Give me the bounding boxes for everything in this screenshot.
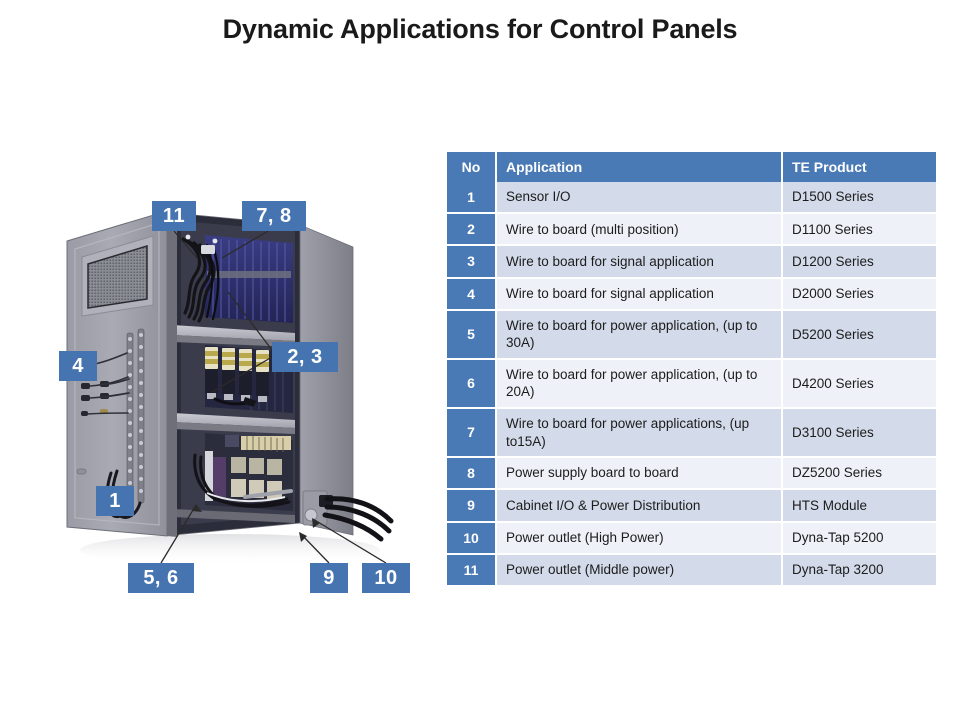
column-header-application: Application	[496, 152, 782, 182]
table-row[interactable]: 1Sensor I/OD1500 Series	[447, 182, 936, 213]
cell-te-product: D2000 Series	[782, 278, 936, 310]
callout-badge-9[interactable]: 9	[310, 563, 348, 593]
cell-application: Wire to board for power applications, (u…	[496, 408, 782, 457]
cell-te-product: D1100 Series	[782, 213, 936, 245]
control-panel-cabinet-photo	[55, 205, 415, 575]
cabinet-side-panel	[300, 225, 353, 535]
cell-application: Power outlet (High Power)	[496, 522, 782, 554]
table-header: No Application TE Product	[447, 152, 936, 182]
column-header-te-product: TE Product	[782, 152, 936, 182]
table-row[interactable]: 4Wire to board for signal applicationD20…	[447, 278, 936, 310]
callout-badge-5-6[interactable]: 5, 6	[128, 563, 194, 593]
table-row[interactable]: 6Wire to board for power application, (u…	[447, 359, 936, 408]
callout-label: 11	[163, 206, 185, 226]
table-row[interactable]: 11Power outlet (Middle power)Dyna-Tap 32…	[447, 554, 936, 585]
cell-te-product: DZ5200 Series	[782, 457, 936, 489]
cell-application: Wire to board for power application, (up…	[496, 359, 782, 408]
floor-shadow	[80, 534, 380, 566]
table-header-row: No Application TE Product	[447, 152, 936, 182]
table-row[interactable]: 8Power supply board to boardDZ5200 Serie…	[447, 457, 936, 489]
cell-no: 5	[447, 310, 496, 359]
table-row[interactable]: 7Wire to board for power applications, (…	[447, 408, 936, 457]
cell-no: 11	[447, 554, 496, 585]
door-handle	[77, 469, 86, 474]
callout-label: 1	[109, 491, 121, 511]
cell-te-product: HTS Module	[782, 489, 936, 521]
callout-label: 4	[72, 356, 84, 376]
connector-white-top	[201, 245, 215, 254]
table-row[interactable]: 9Cabinet I/O & Power DistributionHTS Mod…	[447, 489, 936, 521]
callout-badge-10[interactable]: 10	[362, 563, 410, 593]
cell-application: Power outlet (Middle power)	[496, 554, 782, 585]
cell-no: 4	[447, 278, 496, 310]
power-outlet-round	[305, 509, 317, 521]
table-row[interactable]: 2Wire to board (multi position)D1100 Ser…	[447, 213, 936, 245]
cell-application: Wire to board for power application, (up…	[496, 310, 782, 359]
callout-label: 10	[374, 568, 397, 588]
table-row[interactable]: 10Power outlet (High Power)Dyna-Tap 5200	[447, 522, 936, 554]
cell-te-product: D1500 Series	[782, 182, 936, 213]
cell-te-product: Dyna-Tap 3200	[782, 554, 936, 585]
cell-te-product: D3100 Series	[782, 408, 936, 457]
cabinet-illustration	[55, 205, 415, 575]
column-header-no: No	[447, 152, 496, 182]
cell-no: 8	[447, 457, 496, 489]
cabinet-front-edge	[167, 211, 177, 537]
callout-badge-11[interactable]: 11	[152, 201, 196, 231]
callout-badge-2-3[interactable]: 2, 3	[272, 342, 338, 372]
cell-application: Power supply board to board	[496, 457, 782, 489]
cell-no: 2	[447, 213, 496, 245]
page-title: Dynamic Applications for Control Panels	[0, 14, 960, 45]
callout-label: 7, 8	[256, 206, 291, 226]
cell-te-product: D5200 Series	[782, 310, 936, 359]
table-row[interactable]: 3Wire to board for signal applicationD12…	[447, 245, 936, 277]
cell-application: Wire to board (multi position)	[496, 213, 782, 245]
cell-no: 3	[447, 245, 496, 277]
callout-badge-7-8[interactable]: 7, 8	[242, 201, 306, 231]
cell-no: 10	[447, 522, 496, 554]
table-row[interactable]: 5Wire to board for power application, (u…	[447, 310, 936, 359]
cell-no: 7	[447, 408, 496, 457]
callout-label: 9	[323, 568, 335, 588]
cell-te-product: D4200 Series	[782, 359, 936, 408]
terminal-strip-bottom	[241, 436, 291, 450]
cell-te-product: D1200 Series	[782, 245, 936, 277]
cell-application: Wire to board for signal application	[496, 278, 782, 310]
cell-application: Sensor I/O	[496, 182, 782, 213]
callout-label: 5, 6	[143, 568, 178, 588]
cell-application: Cabinet I/O & Power Distribution	[496, 489, 782, 521]
table-body: 1Sensor I/OD1500 Series2Wire to board (m…	[447, 182, 936, 585]
callout-badge-1[interactable]: 1	[96, 486, 134, 516]
cell-no: 1	[447, 182, 496, 213]
callout-badge-4[interactable]: 4	[59, 351, 97, 381]
cell-no: 6	[447, 359, 496, 408]
cell-no: 9	[447, 489, 496, 521]
product-application-table: No Application TE Product 1Sensor I/OD15…	[447, 152, 936, 585]
callout-label: 2, 3	[287, 347, 322, 367]
cell-application: Wire to board for signal application	[496, 245, 782, 277]
cell-te-product: Dyna-Tap 5200	[782, 522, 936, 554]
